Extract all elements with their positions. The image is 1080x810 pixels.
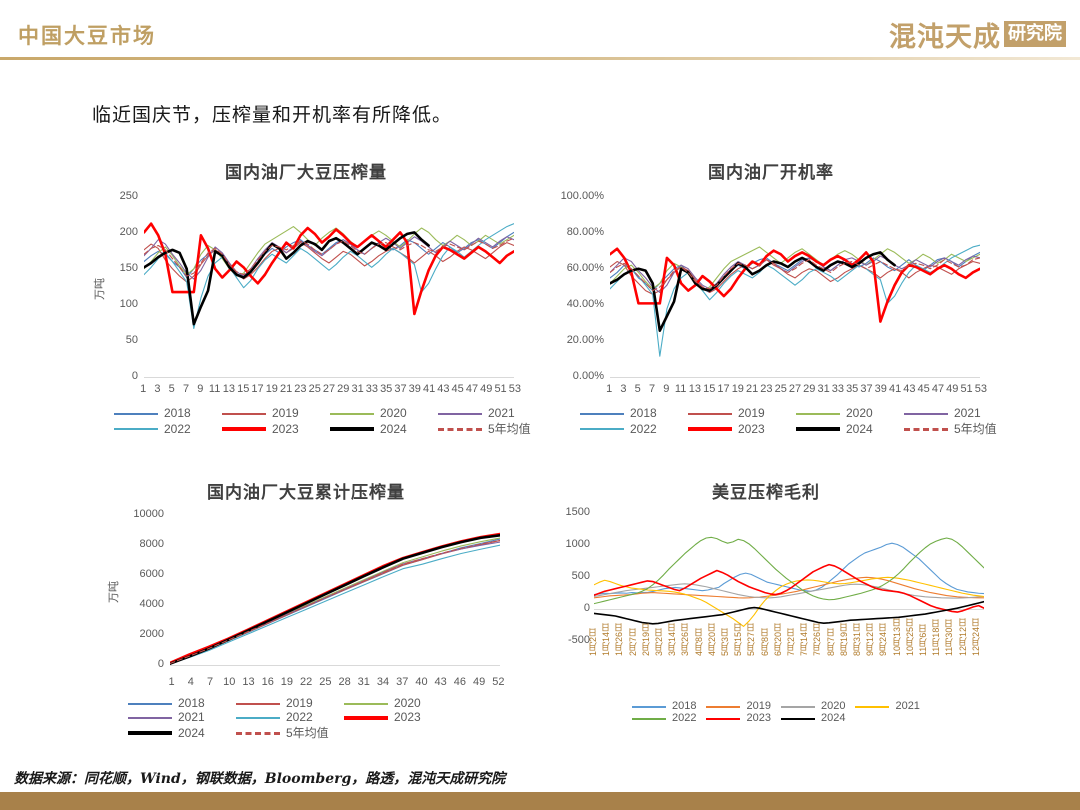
legend-swatch: [706, 706, 740, 708]
chart-svg-cumulative-crush: [170, 514, 500, 666]
x-tick: 47: [465, 383, 479, 395]
legend-item[interactable]: 2020: [796, 406, 904, 420]
x-tick: 25: [774, 383, 788, 395]
legend-item[interactable]: 2022: [580, 420, 688, 437]
legend-label: 2024: [821, 712, 845, 724]
y-tick: 1500: [566, 506, 590, 518]
chart-panel-us-crush-margin: 美豆压榨毛利 1500 1000 500 0 -500 1月2日1月14日1月2…: [546, 478, 986, 748]
series-line: [170, 545, 500, 664]
legend-label: 5年均值: [286, 724, 329, 741]
legend-label: 2021: [488, 406, 515, 420]
legend-swatch: [632, 718, 666, 720]
x-tick: 35: [845, 383, 859, 395]
logo-wordmark: 混沌天成: [889, 15, 1001, 54]
x-tick: 21: [279, 383, 293, 395]
header-divider: [0, 57, 1080, 60]
legend-item[interactable]: 2023: [688, 420, 796, 437]
y-tick: 10000: [133, 508, 164, 520]
legend-swatch: [904, 428, 948, 431]
y-tick: 0.00%: [573, 370, 604, 382]
x-tick: 10: [220, 676, 239, 688]
legend-item[interactable]: 2020: [344, 696, 452, 710]
x-tick: 51: [493, 383, 507, 395]
legend-item[interactable]: 2023: [706, 712, 770, 724]
legend-item[interactable]: 2018: [580, 406, 688, 420]
x-tick: 1月2日: [586, 618, 599, 656]
legend-label: 2020: [394, 696, 421, 710]
legend-swatch: [580, 413, 624, 415]
x-tick: 46: [450, 676, 469, 688]
x-tick: 19: [277, 676, 296, 688]
x-tick: 28: [335, 676, 354, 688]
x-tick: 7: [200, 676, 219, 688]
logo-seal-icon: 研究院: [1004, 21, 1066, 48]
x-tick: 39: [408, 383, 422, 395]
x-tick: 19: [265, 383, 279, 395]
legend-item[interactable]: 2019: [222, 406, 330, 420]
x-tick: 10月25日: [903, 618, 916, 656]
x-tick: 1月14日: [599, 618, 612, 656]
chart-legend-cumulative-crush: 20182019202020212022202320245年均值: [128, 696, 558, 741]
y-tick: 2000: [140, 628, 164, 640]
legend-label: 2022: [672, 712, 696, 724]
x-tick: 4月8日: [692, 618, 705, 656]
x-tick: 40: [412, 676, 431, 688]
x-tick: 15: [236, 383, 250, 395]
y-tick: 250: [120, 190, 138, 202]
x-tick: 41: [888, 383, 902, 395]
x-tick: 5月15日: [731, 618, 744, 656]
legend-item[interactable]: 2020: [781, 700, 845, 712]
legend-label: 2020: [380, 406, 407, 420]
legend-item[interactable]: 2024: [330, 420, 438, 437]
legend-label: 2019: [738, 406, 765, 420]
chart-svg-crush-volume: [144, 196, 514, 378]
y-axis-ticks-operating-rate: 100.00% 80.00% 60.00% 40.00% 20.00% 0.00…: [534, 196, 604, 376]
series-line: [594, 543, 984, 594]
x-axis-line: [610, 377, 980, 378]
legend-item[interactable]: 2021: [904, 406, 1012, 420]
x-tick: 10月13日: [890, 618, 903, 656]
legend-label: 2023: [394, 710, 421, 724]
x-tick: 49: [945, 383, 959, 395]
legend-item[interactable]: 2021: [855, 700, 919, 712]
data-source-note: 数据来源：同花顺，Wind，钢联数据，Bloomberg，路透，混沌天成研究院: [14, 768, 505, 788]
y-tick: 4000: [140, 598, 164, 610]
x-tick: 17: [716, 383, 730, 395]
legend-item[interactable]: 2024: [128, 724, 236, 741]
legend-label: 2024: [380, 422, 407, 436]
x-axis-ticks-us-crush-margin: 1月2日1月14日1月26日2月7日2月19日3月2日3月14日3月26日4月8…: [586, 618, 982, 656]
legend-label: 2020: [846, 406, 873, 420]
x-tick: 16: [258, 676, 277, 688]
chart-panel-crush-volume: 国内油厂大豆压榨量 万吨 250 200 150 100 50 0 135791…: [96, 158, 516, 458]
legend-swatch: [236, 703, 280, 705]
x-axis-line: [170, 665, 500, 666]
legend-item[interactable]: 2018: [632, 700, 696, 712]
legend-swatch: [128, 703, 172, 705]
y-tick: 500: [572, 570, 590, 582]
x-tick: 8月7日: [824, 618, 837, 656]
y-tick: 150: [120, 262, 138, 274]
legend-swatch: [438, 428, 482, 431]
x-tick: 5: [631, 383, 645, 395]
y-tick: 200: [120, 226, 138, 238]
legend-label: 2022: [164, 422, 191, 436]
x-tick: 9: [193, 383, 207, 395]
x-tick: 49: [479, 383, 493, 395]
legend-item[interactable]: 5年均值: [904, 420, 1012, 437]
legend-label: 5年均值: [488, 420, 531, 437]
legend-item[interactable]: 2019: [688, 406, 796, 420]
chart-title-operating-rate: 国内油厂开机率: [556, 158, 986, 183]
y-axis-ticks-us-crush-margin: 1500 1000 500 0 -500: [542, 512, 590, 640]
legend-swatch: [438, 413, 482, 415]
legend-swatch: [580, 428, 624, 430]
legend-swatch: [688, 427, 732, 431]
x-tick: 33: [365, 383, 379, 395]
x-tick: 12月24日: [969, 618, 982, 656]
x-tick: 3月2日: [652, 618, 665, 656]
x-tick: 37: [393, 676, 412, 688]
legend-item[interactable]: 2024: [781, 712, 845, 724]
x-tick: 9: [659, 383, 673, 395]
x-tick: 9月24日: [876, 618, 889, 656]
x-tick: 53: [974, 383, 988, 395]
legend-swatch: [796, 427, 840, 431]
x-tick: 3: [616, 383, 630, 395]
x-tick: 27: [788, 383, 802, 395]
y-axis-ticks-crush-volume: 250 200 150 100 50 0: [96, 196, 138, 376]
x-tick: 8月31日: [850, 618, 863, 656]
legend-item[interactable]: 2024: [796, 420, 904, 437]
legend-item[interactable]: 2022: [236, 710, 344, 724]
x-tick: 43: [902, 383, 916, 395]
legend-swatch: [796, 413, 840, 415]
legend-label: 2021: [954, 406, 981, 420]
headline-text: 临近国庆节，压榨量和开机率有所降低。: [92, 100, 452, 127]
chart-legend-us-crush-margin: 2018201920202021202220232024: [632, 700, 962, 724]
x-tick: 31: [816, 383, 830, 395]
x-tick: 4: [181, 676, 200, 688]
chart-title-crush-volume: 国内油厂大豆压榨量: [96, 158, 516, 183]
series-line: [144, 224, 514, 314]
x-tick: 13: [239, 676, 258, 688]
x-tick: 52: [489, 676, 508, 688]
x-tick: 7: [645, 383, 659, 395]
x-tick: 11: [207, 383, 221, 395]
y-axis-ticks-cumulative-crush: 10000 8000 6000 4000 2000 0: [106, 514, 164, 664]
series-line: [170, 542, 500, 663]
chart-title-cumulative-crush: 国内油厂大豆累计压榨量: [96, 478, 516, 503]
y-tick: 1000: [566, 538, 590, 550]
legend-item[interactable]: 2020: [330, 406, 438, 420]
y-tick: 100.00%: [561, 190, 604, 202]
legend-label: 2020: [821, 700, 845, 712]
x-tick: 43: [431, 676, 450, 688]
legend-swatch: [114, 428, 158, 430]
x-tick: 53: [508, 383, 522, 395]
x-tick: 15: [702, 383, 716, 395]
x-axis-line: [144, 377, 514, 378]
legend-label: 2022: [630, 422, 657, 436]
legend-label: 2018: [672, 700, 696, 712]
legend-swatch: [330, 413, 374, 415]
x-tick: 49: [470, 676, 489, 688]
legend-label: 2021: [178, 710, 205, 724]
x-tick: 1: [602, 383, 616, 395]
chart-title-us-crush-margin: 美豆压榨毛利: [546, 478, 986, 503]
x-tick: 7月14日: [797, 618, 810, 656]
x-tick: 2月19日: [639, 618, 652, 656]
x-tick: 45: [451, 383, 465, 395]
y-tick: 6000: [140, 568, 164, 580]
y-tick: 50: [126, 334, 138, 346]
legend-label: 2024: [178, 726, 205, 740]
x-tick: 3月14日: [665, 618, 678, 656]
legend-swatch: [344, 716, 388, 720]
y-tick: 0: [132, 370, 138, 382]
legend-swatch: [632, 706, 666, 708]
x-tick: 33: [831, 383, 845, 395]
x-tick: 47: [931, 383, 945, 395]
x-tick: 17: [250, 383, 264, 395]
plot-area-cumulative-crush: 万吨 10000 8000 6000 4000 2000 0: [96, 514, 516, 674]
x-tick: 13: [222, 383, 236, 395]
x-tick: 4月20日: [705, 618, 718, 656]
x-tick: 27: [322, 383, 336, 395]
y-tick: 40.00%: [567, 298, 604, 310]
x-tick: 31: [350, 383, 364, 395]
x-tick: 5月3日: [718, 618, 731, 656]
page-title: 中国大豆市场: [18, 20, 156, 50]
x-tick: 3月26日: [678, 618, 691, 656]
legend-swatch: [236, 732, 280, 735]
x-tick: 6月8日: [758, 618, 771, 656]
plot-area-operating-rate: 100.00% 80.00% 60.00% 40.00% 20.00% 0.00…: [556, 196, 986, 386]
x-tick: 51: [959, 383, 973, 395]
company-logo: 混沌天成 研究院: [889, 14, 1066, 54]
legend-swatch: [855, 706, 889, 708]
legend-swatch: [344, 703, 388, 705]
y-tick: 100: [120, 298, 138, 310]
legend-label: 2022: [286, 710, 313, 724]
legend-label: 2021: [895, 700, 919, 712]
chart-panel-cumulative-crush: 国内油厂大豆累计压榨量 万吨 10000 8000 6000 4000 2000…: [96, 478, 516, 748]
legend-label: 2023: [738, 422, 765, 436]
y-tick: 60.00%: [567, 262, 604, 274]
legend-swatch: [904, 413, 948, 415]
chart-legend-crush-volume: 20182019202020212022202320245年均值: [114, 406, 554, 437]
x-tick: 7: [179, 383, 193, 395]
x-tick: 1: [136, 383, 150, 395]
legend-item[interactable]: 2021: [438, 406, 546, 420]
x-tick: 23: [293, 383, 307, 395]
x-tick: 11月18日: [929, 618, 942, 656]
x-tick: 2月7日: [626, 618, 639, 656]
x-tick: 39: [874, 383, 888, 395]
legend-item[interactable]: 2018: [128, 696, 236, 710]
legend-swatch: [706, 718, 740, 720]
y-tick: 0: [584, 602, 590, 614]
x-tick: 6月20日: [771, 618, 784, 656]
x-tick: 41: [422, 383, 436, 395]
x-tick: 9月12日: [863, 618, 876, 656]
x-tick: 13: [688, 383, 702, 395]
legend-item[interactable]: 2023: [222, 420, 330, 437]
legend-item[interactable]: 2018: [114, 406, 222, 420]
x-tick: 22: [297, 676, 316, 688]
x-tick: 7月26日: [810, 618, 823, 656]
x-tick: 35: [379, 383, 393, 395]
y-tick: 20.00%: [567, 334, 604, 346]
legend-label: 2023: [272, 422, 299, 436]
x-tick: 1月26日: [612, 618, 625, 656]
legend-item[interactable]: 5年均值: [236, 724, 344, 741]
x-tick: 23: [759, 383, 773, 395]
x-tick: 1: [162, 676, 181, 688]
x-tick: 11月6日: [916, 618, 929, 656]
legend-item[interactable]: 5年均值: [438, 420, 546, 437]
legend-label: 2019: [746, 700, 770, 712]
x-tick: 43: [436, 383, 450, 395]
footer-bar: [0, 792, 1080, 810]
series-line: [594, 537, 984, 603]
chart-legend-operating-rate: 20182019202020212022202320245年均值: [580, 406, 1020, 437]
legend-swatch: [781, 706, 815, 708]
x-tick: 11月30日: [942, 618, 955, 656]
legend-item[interactable]: 2022: [114, 420, 222, 437]
legend-swatch: [222, 413, 266, 415]
x-tick: 29: [802, 383, 816, 395]
legend-label: 2018: [178, 696, 205, 710]
legend-label: 2018: [630, 406, 657, 420]
chart-panel-operating-rate: 国内油厂开机率 100.00% 80.00% 60.00% 40.00% 20.…: [556, 158, 986, 458]
x-tick: 12月12日: [956, 618, 969, 656]
x-tick: 29: [336, 383, 350, 395]
plot-area-crush-volume: 万吨 250 200 150 100 50 0: [96, 196, 516, 386]
x-tick: 37: [859, 383, 873, 395]
x-tick: 25: [308, 383, 322, 395]
x-axis-ticks-operating-rate: 1357911131517192123252729313335373941434…: [602, 383, 988, 395]
x-tick: 25: [316, 676, 335, 688]
legend-swatch: [128, 717, 172, 719]
legend-swatch: [114, 413, 158, 415]
x-tick: 31: [354, 676, 373, 688]
x-axis-ticks-crush-volume: 1357911131517192123252729313335373941434…: [136, 383, 522, 395]
legend-item[interactable]: 2021: [128, 710, 236, 724]
legend-item[interactable]: 2023: [344, 710, 452, 724]
legend-swatch: [128, 731, 172, 735]
legend-swatch: [781, 718, 815, 720]
x-tick: 5: [165, 383, 179, 395]
y-tick: 0: [158, 658, 164, 670]
x-tick: 8月19日: [837, 618, 850, 656]
page-header: 中国大豆市场 混沌天成 研究院: [0, 0, 1080, 62]
legend-item[interactable]: 2019: [706, 700, 770, 712]
legend-label: 5年均值: [954, 420, 997, 437]
x-tick: 19: [731, 383, 745, 395]
x-tick: 11: [673, 383, 687, 395]
legend-label: 2019: [272, 406, 299, 420]
x-tick: 5月27日: [744, 618, 757, 656]
y-tick: 80.00%: [567, 226, 604, 238]
x-tick: 34: [373, 676, 392, 688]
series-line: [594, 565, 984, 612]
legend-swatch: [236, 717, 280, 719]
legend-label: 2019: [286, 696, 313, 710]
legend-item[interactable]: 2019: [236, 696, 344, 710]
x-tick: 45: [917, 383, 931, 395]
legend-label: 2023: [746, 712, 770, 724]
y-tick: 8000: [140, 538, 164, 550]
x-axis-ticks-cumulative-crush: 147101316192225283134374043464952: [162, 676, 508, 688]
legend-item[interactable]: 2022: [632, 712, 696, 724]
x-tick: 37: [393, 383, 407, 395]
x-tick: 21: [745, 383, 759, 395]
x-tick: 3: [150, 383, 164, 395]
legend-label: 2018: [164, 406, 191, 420]
legend-swatch: [688, 413, 732, 415]
chart-svg-operating-rate: [610, 196, 980, 378]
legend-swatch: [330, 427, 374, 431]
legend-swatch: [222, 427, 266, 431]
x-tick: 7月2日: [784, 618, 797, 656]
legend-label: 2024: [846, 422, 873, 436]
